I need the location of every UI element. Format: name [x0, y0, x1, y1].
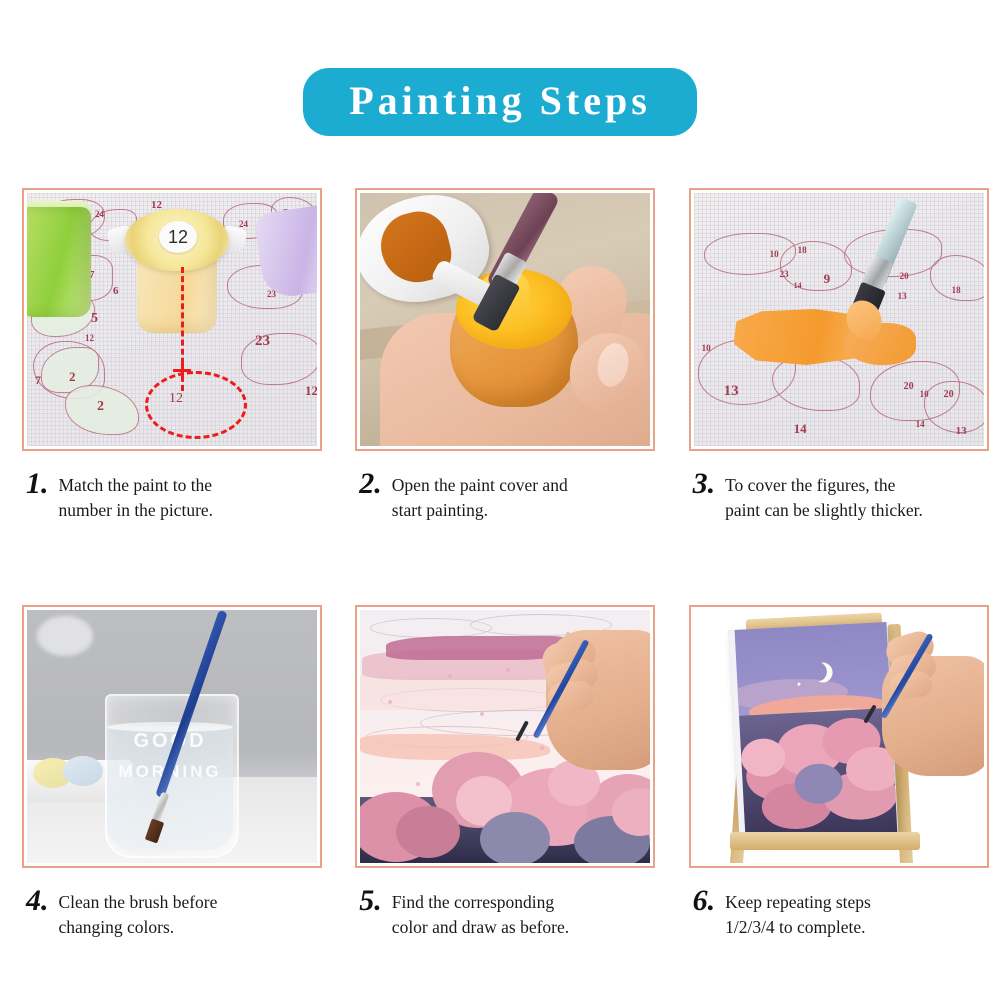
step-5-caption: 5. Find the corresponding color and draw…	[359, 884, 659, 940]
step-4-number: 4.	[26, 884, 49, 940]
step-4-text: Clean the brush before changing colors.	[59, 884, 218, 940]
canvas-number: 12	[305, 383, 317, 399]
painting-steps-infographic: Painting Steps	[0, 0, 1000, 1000]
canvas-number: 9	[824, 271, 831, 287]
canvas-number: 10	[770, 249, 779, 259]
step-3-photo: 10 18 23 14 9 20 18 13 10 20 13 14	[694, 193, 984, 446]
canvas-number: 7	[35, 373, 41, 388]
canvas-target-number: 12	[169, 391, 183, 407]
steps-row-2: GOOD MORNING 4. Clean the brush before c…	[0, 605, 1000, 940]
canvas-number: 20	[944, 389, 954, 400]
step-6-photo	[694, 610, 984, 863]
step-3-frame-wrap: 10 18 23 14 9 20 18 13 10 20 13 14	[689, 188, 989, 451]
step-5-line-1: Find the corresponding	[392, 890, 569, 915]
step-1-photo-frame: 12 24 2 24 7 6 5 12 2 7 2 23 24	[22, 188, 322, 451]
painted-band-dark	[386, 636, 566, 660]
background-blur-object	[37, 616, 93, 656]
step-1-line-2: number in the picture.	[59, 498, 214, 523]
canvas-outline-shape	[780, 241, 852, 291]
background-object	[63, 756, 103, 786]
step-5-photo	[360, 610, 650, 863]
step-4-frame-wrap: GOOD MORNING	[22, 605, 322, 868]
step-3-line-1: To cover the figures, the	[725, 473, 923, 498]
canvas-number: 14	[794, 421, 807, 437]
step-card-2: 2. Open the paint cover and start painti…	[333, 188, 666, 523]
canvas-number: 13	[956, 425, 967, 437]
title-banner-wrap: Painting Steps	[0, 68, 1000, 136]
blossom-cluster	[480, 812, 550, 863]
step-1-number: 1.	[26, 467, 49, 523]
star	[797, 683, 800, 686]
easel-tray	[730, 832, 920, 850]
title-banner: Painting Steps	[303, 68, 697, 136]
step-5-photo-frame	[355, 605, 655, 868]
step-5-number: 5.	[359, 884, 382, 940]
step-5-line-2: color and draw as before.	[392, 915, 569, 940]
step-3-text: To cover the figures, the paint can be s…	[725, 467, 923, 523]
step-6-frame-wrap	[689, 605, 989, 868]
canvas-number: 13	[898, 291, 907, 301]
canvas-number: 20	[904, 381, 914, 392]
step-2-photo	[360, 193, 650, 446]
step-2-text: Open the paint cover and start painting.	[392, 467, 568, 523]
steps-row-1: 12 24 2 24 7 6 5 12 2 7 2 23 24	[0, 188, 1000, 523]
step-1-text: Match the paint to the number in the pic…	[59, 467, 214, 523]
finished-canvas	[728, 622, 897, 842]
highlighted-paint-pot: 12	[123, 207, 231, 337]
step-1-line-1: Match the paint to the	[59, 473, 214, 498]
step-1-photo: 12 24 2 24 7 6 5 12 2 7 2 23 24	[27, 193, 317, 446]
step-4-photo-frame: GOOD MORNING	[22, 605, 322, 868]
paint-pot-number-label: 12	[159, 221, 197, 253]
step-2-line-1: Open the paint cover and	[392, 473, 568, 498]
step-5-text: Find the corresponding color and draw as…	[392, 884, 569, 940]
step-1-frame-wrap: 12 24 2 24 7 6 5 12 2 7 2 23 24	[22, 188, 322, 451]
step-2-frame-wrap	[355, 188, 655, 451]
red-dashed-highlight-ellipse	[145, 371, 247, 439]
canvas-number: 10	[702, 343, 711, 353]
step-3-photo-frame: 10 18 23 14 9 20 18 13 10 20 13 14	[689, 188, 989, 451]
step-4-photo: GOOD MORNING	[27, 610, 317, 863]
step-2-caption: 2. Open the paint cover and start painti…	[359, 467, 659, 523]
canvas-number: 2	[69, 369, 76, 385]
step-6-caption: 6. Keep repeating steps 1/2/3/4 to compl…	[693, 884, 993, 940]
step-4-line-2: changing colors.	[59, 915, 218, 940]
step-2-number: 2.	[359, 467, 382, 523]
canvas-number: 14	[916, 419, 925, 429]
step-card-4: GOOD MORNING 4. Clean the brush before c…	[0, 605, 333, 940]
step-6-line-2: 1/2/3/4 to complete.	[725, 915, 871, 940]
canvas-number: 13	[724, 383, 739, 400]
step-card-5: 5. Find the corresponding color and draw…	[333, 605, 666, 940]
canvas-number: 18	[798, 245, 807, 255]
green-paint-pot	[27, 207, 91, 317]
canvas-number: 10	[920, 389, 929, 399]
step-3-line-2: paint can be slightly thicker.	[725, 498, 923, 523]
canvas-number: 2	[97, 399, 104, 415]
step-3-number: 3.	[693, 467, 716, 523]
step-card-6: 6. Keep repeating steps 1/2/3/4 to compl…	[667, 605, 1000, 940]
canvas-number: 12	[85, 333, 94, 343]
step-2-photo-frame	[355, 188, 655, 451]
step-card-3: 10 18 23 14 9 20 18 13 10 20 13 14	[667, 188, 1000, 523]
canvas-number: 18	[952, 285, 961, 295]
canvas-number: 24	[95, 209, 104, 219]
step-3-caption: 3. To cover the figures, the paint can b…	[693, 467, 993, 523]
step-5-frame-wrap	[355, 605, 655, 868]
steps-grid: 12 24 2 24 7 6 5 12 2 7 2 23 24	[0, 188, 1000, 940]
step-6-photo-frame	[689, 605, 989, 868]
step-2-line-2: start painting.	[392, 498, 568, 523]
canvas-number: 5	[91, 311, 98, 327]
canvas-number: 20	[900, 271, 909, 281]
step-6-text: Keep repeating steps 1/2/3/4 to complete…	[725, 884, 871, 940]
step-1-caption: 1. Match the paint to the number in the …	[26, 467, 326, 523]
canvas-outline-shape	[241, 333, 317, 385]
step-6-number: 6.	[693, 884, 716, 940]
blossom-cluster	[396, 806, 460, 858]
step-4-caption: 4. Clean the brush before changing color…	[26, 884, 326, 940]
step-card-1: 12 24 2 24 7 6 5 12 2 7 2 23 24	[0, 188, 333, 523]
canvas-number: 6	[113, 285, 119, 297]
page-title: Painting Steps	[349, 81, 651, 121]
step-4-line-1: Clean the brush before	[59, 890, 218, 915]
step-6-line-1: Keep repeating steps	[725, 890, 871, 915]
canvas-number: 14	[794, 281, 802, 290]
canvas-number: 23	[255, 333, 270, 350]
canvas-number: 24	[239, 219, 248, 229]
canvas-number: 23	[780, 269, 789, 279]
